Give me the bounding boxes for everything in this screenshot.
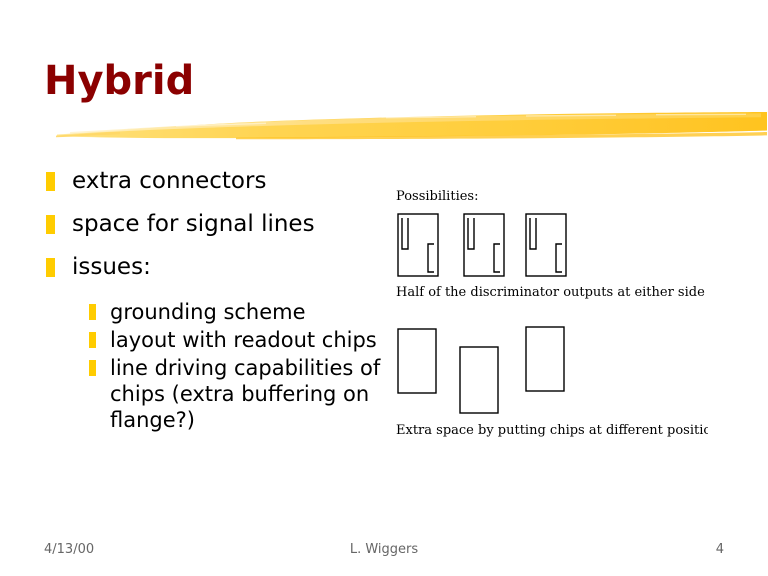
connector-slot-lower-right (494, 244, 500, 272)
hybrid-layout-diagram: Possibilities: Half of the discriminator… (388, 186, 708, 448)
diagram-canvas: Possibilities: Half of the discriminator… (388, 186, 708, 448)
bullet-list: extra connectors space for signal lines … (44, 166, 394, 435)
diagram-caption-bottom: Extra space by putting chips at differen… (396, 423, 708, 438)
diagram-caption-middle: Half of the discriminator outputs at eit… (396, 285, 708, 300)
brush-left-tip (56, 132, 120, 138)
list-item: grounding scheme (88, 299, 394, 325)
list-item: extra connectors (44, 166, 394, 196)
page-title: Hybrid (44, 58, 194, 104)
bullet-label: issues: (72, 254, 151, 280)
list-item: issues: (44, 252, 394, 282)
bullet-marker-icon (46, 258, 55, 277)
sub-bullet-marker-icon (89, 304, 96, 320)
brush-texture (176, 114, 746, 127)
brush-body (57, 112, 767, 138)
chip-3 (526, 214, 566, 276)
bullet-label: extra connectors (72, 168, 266, 194)
connector-slot-upper-left (530, 218, 536, 249)
chip-outline (526, 214, 566, 276)
list-item: line driving capabilities of chips (extr… (88, 355, 394, 433)
list-item: space for signal lines (44, 209, 394, 239)
chip-outline (398, 214, 438, 276)
chip-5 (460, 347, 498, 413)
chip-outline (464, 214, 504, 276)
brush-highlight (70, 113, 761, 133)
bullet-marker-icon (46, 172, 55, 191)
sub-bullet-marker-icon (89, 360, 96, 376)
brush-stroke-icon (56, 108, 768, 142)
chip-2 (464, 214, 504, 276)
diagram-caption-top: Possibilities: (396, 189, 478, 204)
sub-bullet-label: grounding scheme (110, 300, 306, 324)
bullet-label: space for signal lines (72, 211, 315, 237)
connector-slot-lower-right (428, 244, 434, 272)
sub-bullet-label: layout with readout chips (110, 328, 377, 352)
connector-slot-upper-left (468, 218, 474, 249)
chip-1 (398, 214, 438, 276)
brush-tail-streak (236, 132, 767, 139)
slide-footer: 4/13/00 L. Wiggers 4 (0, 538, 768, 564)
connector-slot-upper-left (402, 218, 408, 249)
chip-row-top (398, 214, 566, 276)
title-brush-stroke-divider (56, 108, 768, 142)
list-item: layout with readout chips (88, 327, 394, 353)
connector-slot-lower-right (556, 244, 562, 272)
bullet-marker-icon (46, 215, 55, 234)
chip-row-bottom (398, 327, 564, 413)
chip-6 (526, 327, 564, 391)
sub-bullet-marker-icon (89, 332, 96, 348)
footer-author: L. Wiggers (0, 542, 768, 557)
chip-4 (398, 329, 436, 393)
sub-bullet-label: line driving capabilities of chips (extr… (110, 356, 380, 432)
footer-page-number: 4 (716, 542, 724, 557)
sub-bullet-list: grounding scheme layout with readout chi… (88, 299, 394, 433)
